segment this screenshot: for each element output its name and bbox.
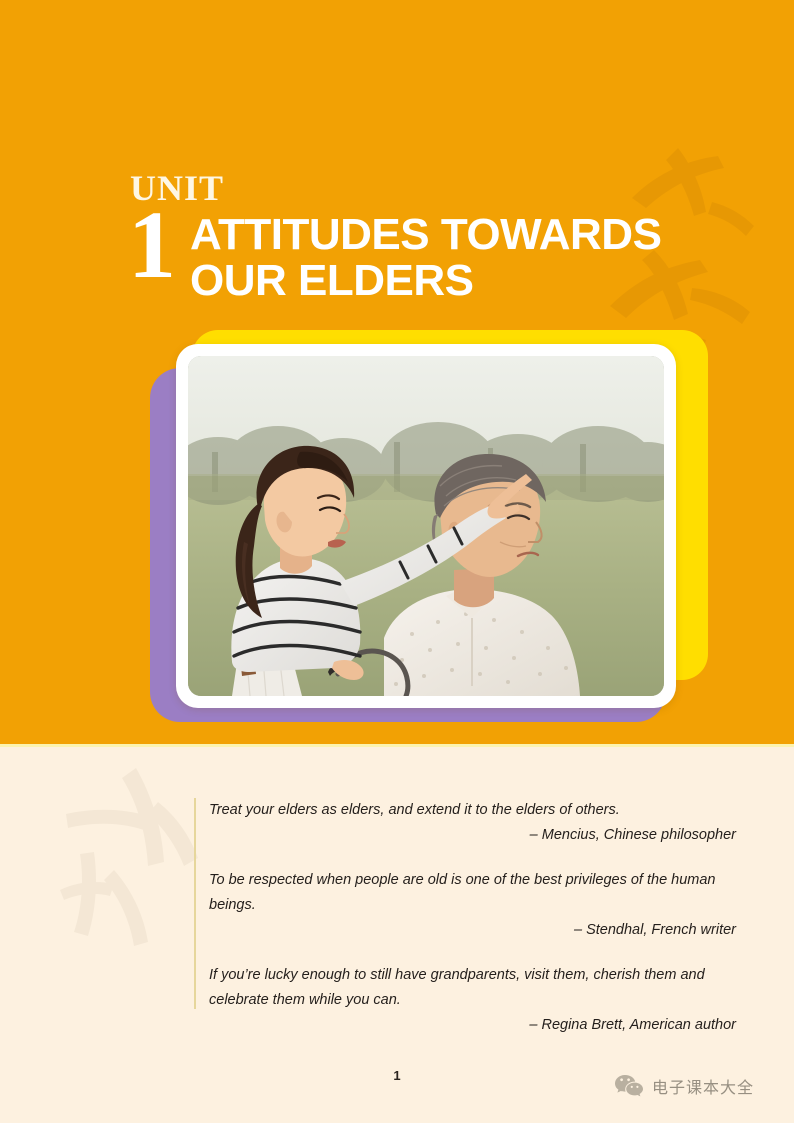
quote-item: If you’re lucky enough to still have gra… (209, 963, 740, 1038)
unit-photo (188, 356, 664, 696)
quote-vertical-rule (194, 798, 196, 1009)
page-title: ATTITUDES TOWARDS OUR ELDERS (190, 208, 661, 304)
brand-watermark: 电子课本大全 (614, 1073, 754, 1099)
quote-attribution: – Regina Brett, American author (209, 1013, 740, 1038)
section-divider (0, 744, 794, 747)
quote-item: To be respected when people are old is o… (209, 868, 740, 943)
quote-attribution: – Stendhal, French writer (209, 918, 740, 943)
textbook-page: UNIT 1 ATTITUDES TOWARDS OUR ELDERS (0, 0, 794, 1123)
quote-item: Treat your elders as elders, and extend … (209, 798, 740, 848)
hero-banner: UNIT 1 ATTITUDES TOWARDS OUR ELDERS (0, 0, 794, 744)
photo-card (176, 344, 676, 708)
brand-name: 电子课本大全 (652, 1074, 754, 1098)
quote-text: To be respected when people are old is o… (209, 868, 740, 918)
quote-attribution: – Mencius, Chinese philosopher (209, 823, 740, 848)
quote-text: Treat your elders as elders, and extend … (209, 798, 740, 823)
unit-title-line-1: ATTITUDES TOWARDS (190, 212, 661, 258)
quote-block: Treat your elders as elders, and extend … (194, 798, 740, 1038)
unit-title-line-2: OUR ELDERS (190, 258, 661, 304)
wechat-icon (614, 1073, 644, 1099)
unit-number: 1 (128, 204, 176, 287)
unit-heading: UNIT 1 ATTITUDES TOWARDS OUR ELDERS (128, 170, 728, 304)
unit-label: UNIT (130, 170, 728, 206)
quote-text: If you’re lucky enough to still have gra… (209, 963, 740, 1013)
